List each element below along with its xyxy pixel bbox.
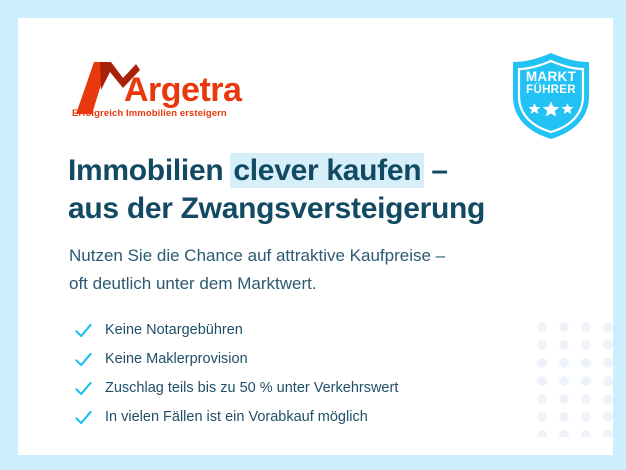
subheading-line-2: oft deutlich unter dem Marktwert. <box>69 270 569 298</box>
market-leader-badge: MARKT FÜHRER <box>505 50 597 142</box>
list-item-label: Zuschlag teils bis zu 50 % unter Verkehr… <box>105 381 398 396</box>
check-icon <box>74 321 93 340</box>
list-item: Keine Notargebühren <box>74 316 534 345</box>
list-item: Zuschlag teils bis zu 50 % unter Verkehr… <box>74 374 534 403</box>
list-item-label: Keine Maklerprovision <box>105 352 248 367</box>
list-item: Keine Maklerprovision <box>74 345 534 374</box>
subheading: Nutzen Sie die Chance auf attraktive Kau… <box>69 242 569 298</box>
headline-text-after: – <box>423 154 447 187</box>
list-item-label: Keine Notargebühren <box>105 323 243 338</box>
headline-text-before: Immobilien <box>68 154 231 187</box>
content-card: Argetra Erfolgreich Immobilien ersteiger… <box>18 18 613 455</box>
list-item-label: In vielen Fällen ist ein Vorabkauf mögli… <box>105 410 368 425</box>
subheading-line-1: Nutzen Sie die Chance auf attraktive Kau… <box>69 242 569 270</box>
argetra-logo[interactable]: Argetra Erfolgreich Immobilien ersteiger… <box>70 58 250 130</box>
decorative-dot-grid <box>536 321 613 437</box>
headline-line-1: Immobilien clever kaufen – <box>68 152 588 190</box>
headline: Immobilien clever kaufen – aus der Zwang… <box>68 152 588 227</box>
headline-line-2: aus der Zwangsversteigerung <box>68 190 588 228</box>
shield-badge-icon <box>505 50 597 142</box>
headline-highlight: clever kaufen <box>230 153 424 188</box>
benefits-list: Keine Notargebühren Keine Maklerprovisio… <box>74 316 534 432</box>
logo-wordmark: Argetra <box>124 73 241 107</box>
logo-tagline: Erfolgreich Immobilien ersteigern <box>72 108 227 119</box>
list-item: In vielen Fällen ist ein Vorabkauf mögli… <box>74 403 534 432</box>
check-icon <box>74 350 93 369</box>
check-icon <box>74 379 93 398</box>
check-icon <box>74 408 93 427</box>
promo-banner: Argetra Erfolgreich Immobilien ersteiger… <box>0 0 626 470</box>
